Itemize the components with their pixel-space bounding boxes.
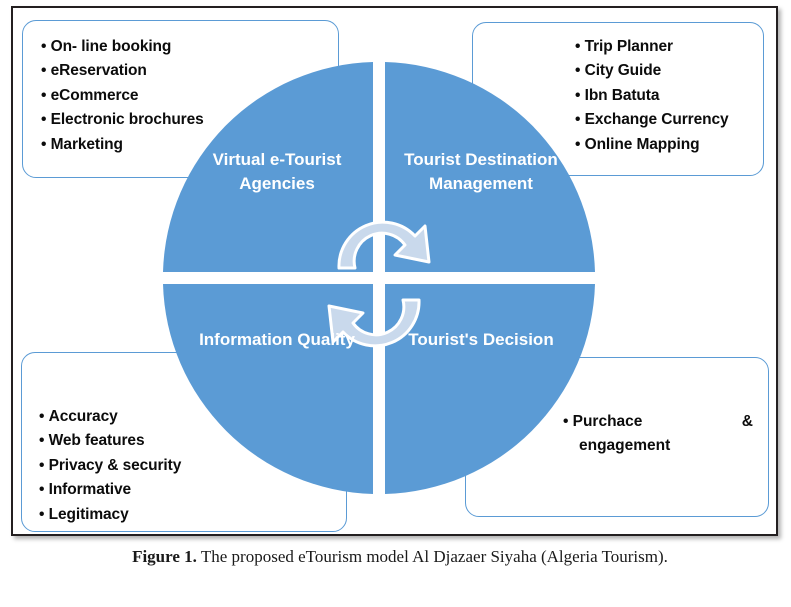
list-item-trailing-ampersand: & <box>742 410 753 434</box>
figure-caption-text: The proposed eTourism model Al Djazaer S… <box>197 547 668 566</box>
quadrant-circle-svg <box>157 56 601 500</box>
figure-frame: On- line booking eReservation eCommerce … <box>11 6 778 536</box>
figure-caption-label: Figure 1. <box>132 547 197 566</box>
quadrant-circle-diagram: Virtual e-Tourist Agencies Tourist Desti… <box>157 56 601 500</box>
figure-caption: Figure 1. The proposed eTourism model Al… <box>95 545 705 568</box>
quadrant-sector-top-left <box>163 62 373 272</box>
list-item: Legitimacy <box>39 503 181 527</box>
figure-page: On- line booking eReservation eCommerce … <box>0 0 791 607</box>
